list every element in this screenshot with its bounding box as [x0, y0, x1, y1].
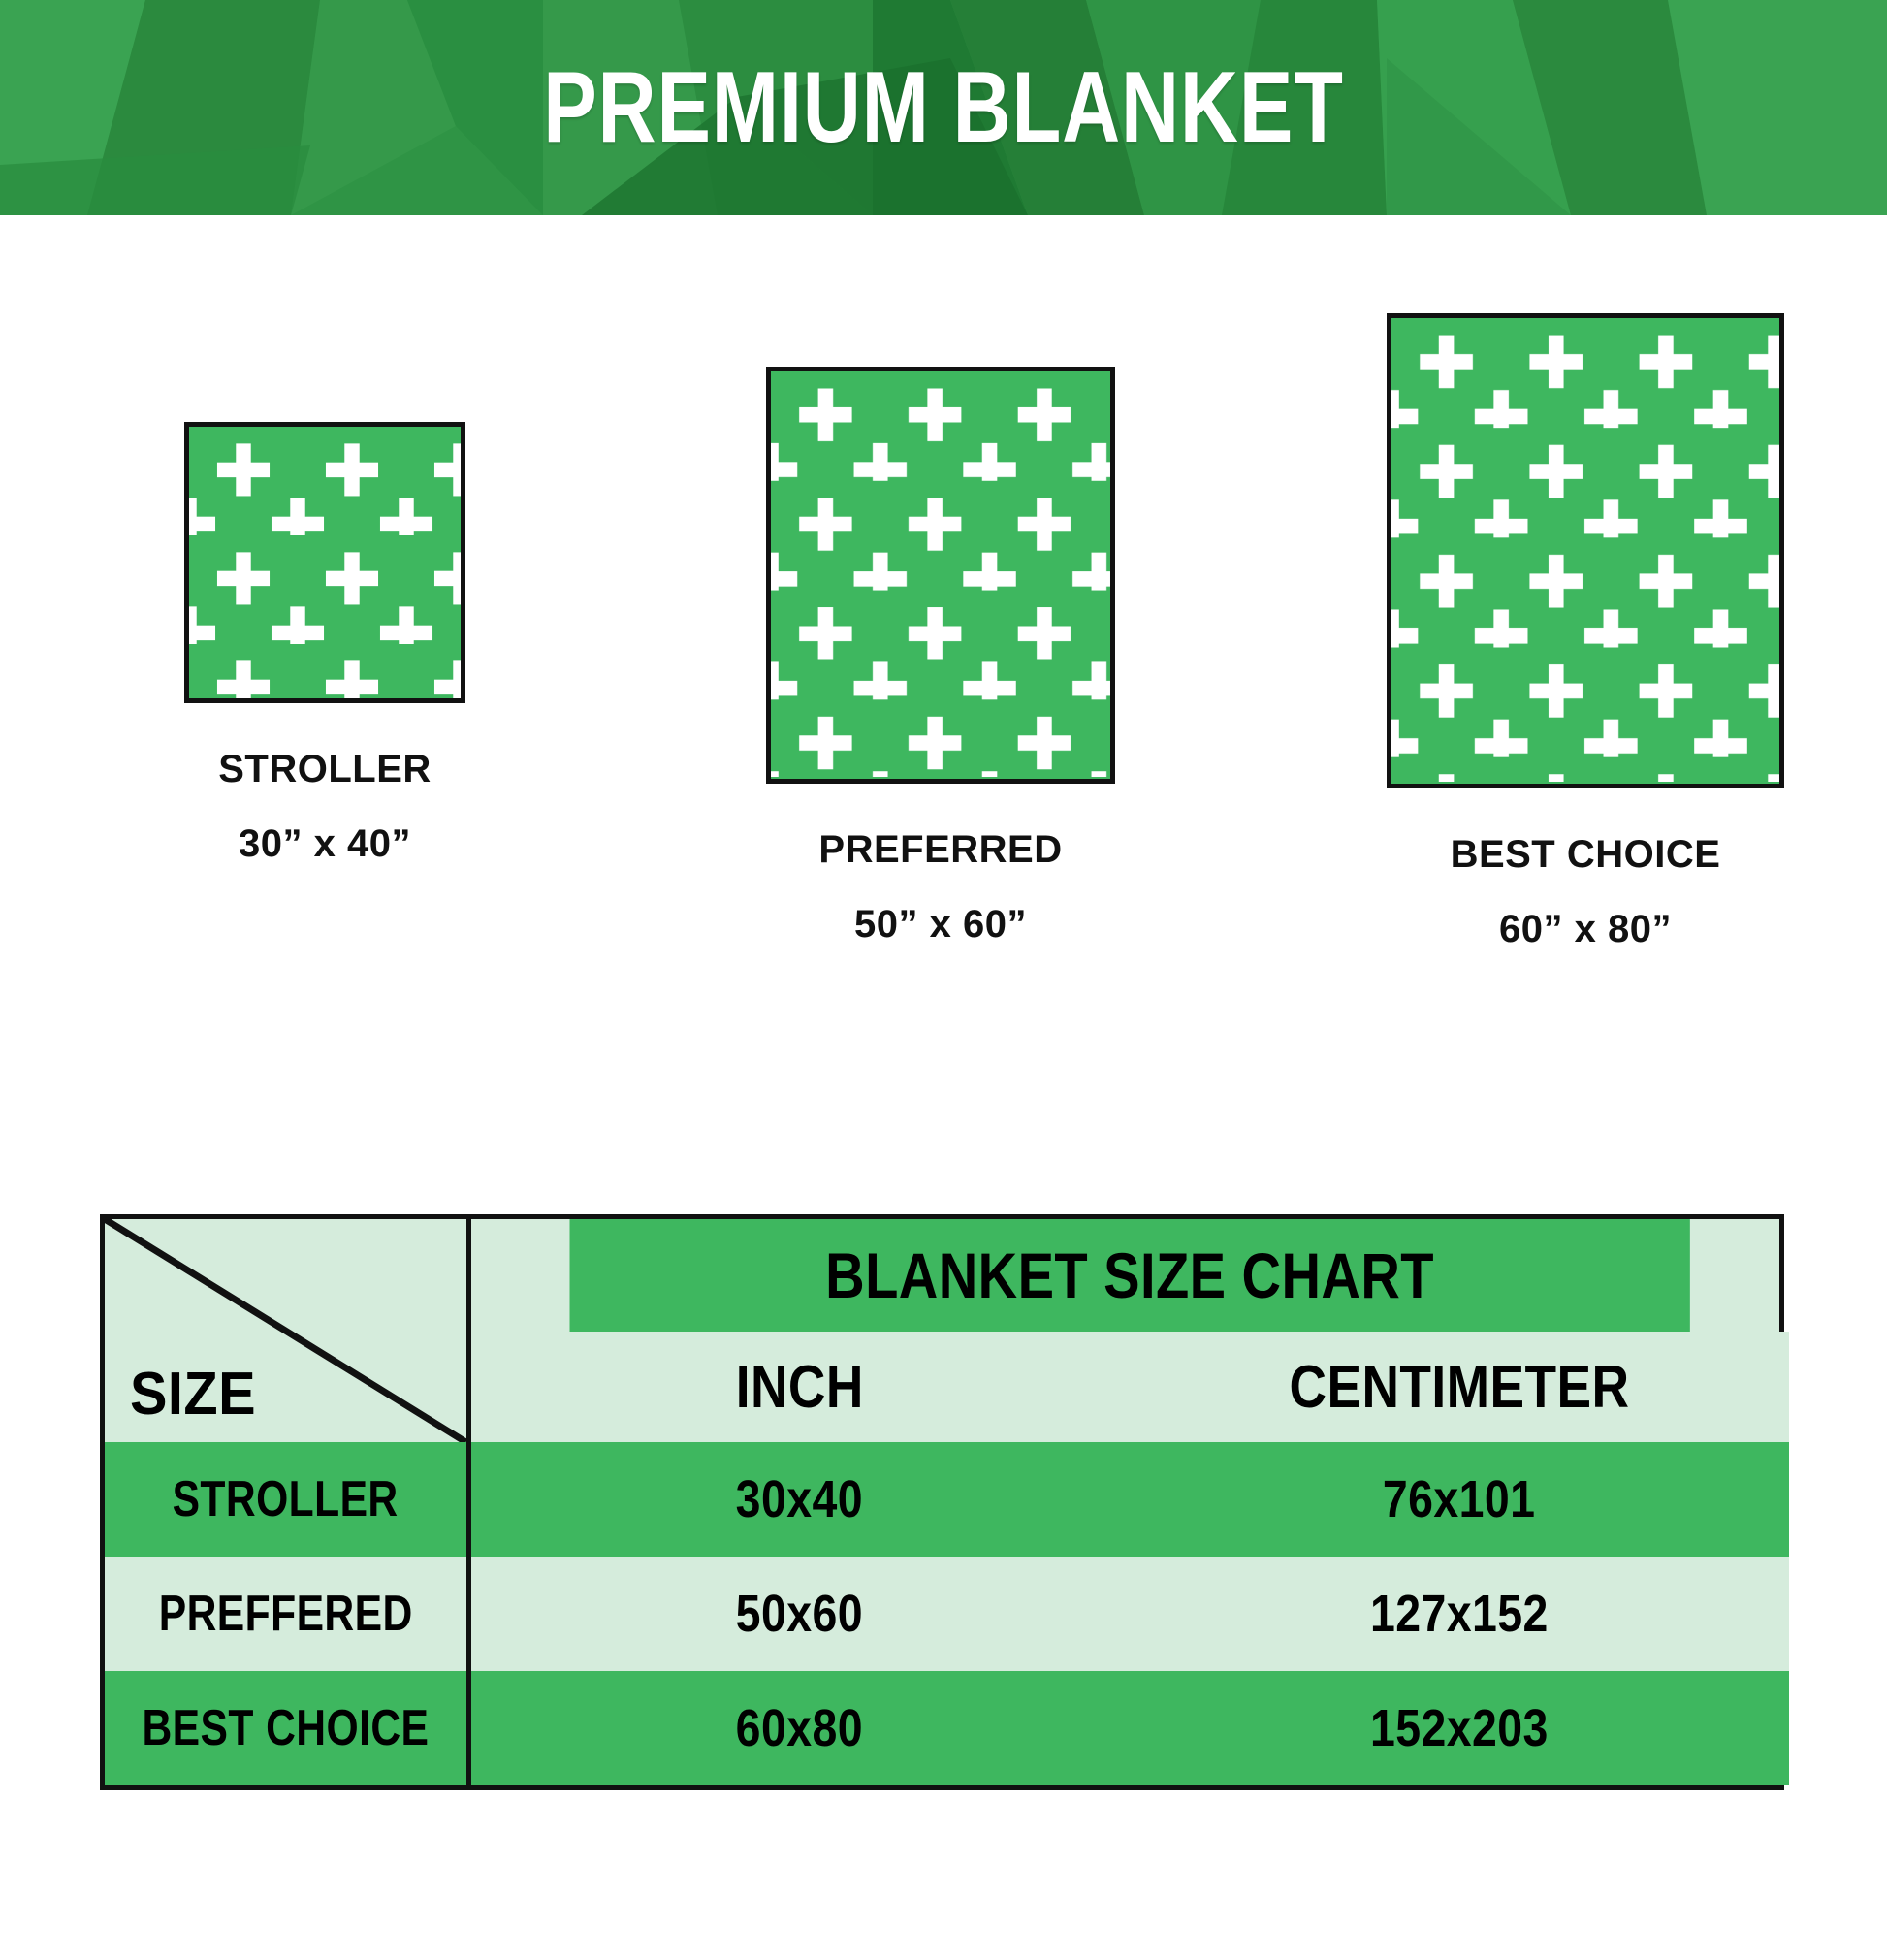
column-header-centimeter: CENTIMETER: [1129, 1332, 1789, 1442]
swatch-group-stroller: STROLLER 30” x 40”: [97, 215, 553, 866]
column-header-inch: INCH: [468, 1332, 1129, 1442]
row-label-stroller: STROLLER: [105, 1442, 468, 1557]
size-corner-cell: SIZE: [105, 1219, 468, 1442]
size-column-header: SIZE: [130, 1360, 256, 1429]
row-label-best-choice-text: BEST CHOICE: [142, 1699, 429, 1757]
row-inch-preffered: 50x60: [468, 1557, 1129, 1671]
row-inch-best-choice-text: 60x80: [736, 1698, 863, 1758]
swatch-dimensions-preferred: 50” x 60”: [621, 903, 1261, 947]
row-cm-stroller: 76x101: [1129, 1442, 1789, 1557]
row-label-preffered: PREFFERED: [105, 1557, 468, 1671]
size-chart-title: BLANKET SIZE CHART: [567, 1219, 1690, 1332]
column-header-centimeter-label: CENTIMETER: [1289, 1353, 1629, 1422]
row-cm-best-choice: 152x203: [1129, 1671, 1789, 1785]
swatch-label-preferred: PREFERRED: [621, 828, 1261, 872]
table-row: STROLLER 30x40 76x101: [105, 1442, 1789, 1557]
swatch-group-best-choice: BEST CHOICE 60” x 80”: [1290, 215, 1881, 951]
plus-pattern-icon: [771, 371, 1110, 777]
row-label-stroller-text: STROLLER: [173, 1470, 399, 1528]
page-title: PREMIUM BLANKET: [189, 0, 1699, 215]
header-banner: PREMIUM BLANKET: [0, 0, 1887, 215]
blanket-swatch-preferred: [766, 367, 1115, 784]
row-inch-stroller: 30x40: [468, 1442, 1129, 1557]
row-inch-stroller-text: 30x40: [736, 1469, 863, 1529]
row-cm-stroller-text: 76x101: [1383, 1469, 1536, 1529]
swatch-dimensions-best-choice: 60” x 80”: [1290, 908, 1881, 951]
blanket-swatch-section: STROLLER 30” x 40” PREFERRED 50” x 60” B…: [0, 215, 1887, 1175]
size-chart: SIZE BLANKET SIZE CHART INCH CENTIMETER …: [105, 1219, 1789, 1785]
row-inch-best-choice: 60x80: [468, 1671, 1129, 1785]
table-title-row: SIZE BLANKET SIZE CHART: [105, 1219, 1789, 1332]
table-row: BEST CHOICE 60x80 152x203: [105, 1671, 1789, 1785]
blanket-swatch-best-choice: [1387, 313, 1784, 788]
swatch-label-stroller: STROLLER: [97, 748, 553, 791]
table-row: PREFFERED 50x60 127x152: [105, 1557, 1789, 1671]
blanket-size-chart-table: SIZE BLANKET SIZE CHART INCH CENTIMETER …: [100, 1214, 1784, 1790]
swatch-dimensions-stroller: 30” x 40”: [97, 822, 553, 866]
plus-pattern-icon: [1391, 318, 1779, 782]
row-label-best-choice: BEST CHOICE: [105, 1671, 468, 1785]
blanket-swatch-stroller: [184, 422, 465, 703]
swatch-label-best-choice: BEST CHOICE: [1290, 833, 1881, 877]
row-cm-best-choice-text: 152x203: [1370, 1698, 1549, 1758]
column-header-inch-label: INCH: [736, 1353, 864, 1422]
plus-pattern-icon: [189, 427, 461, 698]
row-inch-preffered-text: 50x60: [736, 1584, 863, 1644]
swatch-group-preferred: PREFERRED 50” x 60”: [621, 215, 1261, 947]
row-cm-preffered-text: 127x152: [1370, 1584, 1549, 1644]
row-label-preffered-text: PREFFERED: [158, 1585, 412, 1643]
row-cm-preffered: 127x152: [1129, 1557, 1789, 1671]
